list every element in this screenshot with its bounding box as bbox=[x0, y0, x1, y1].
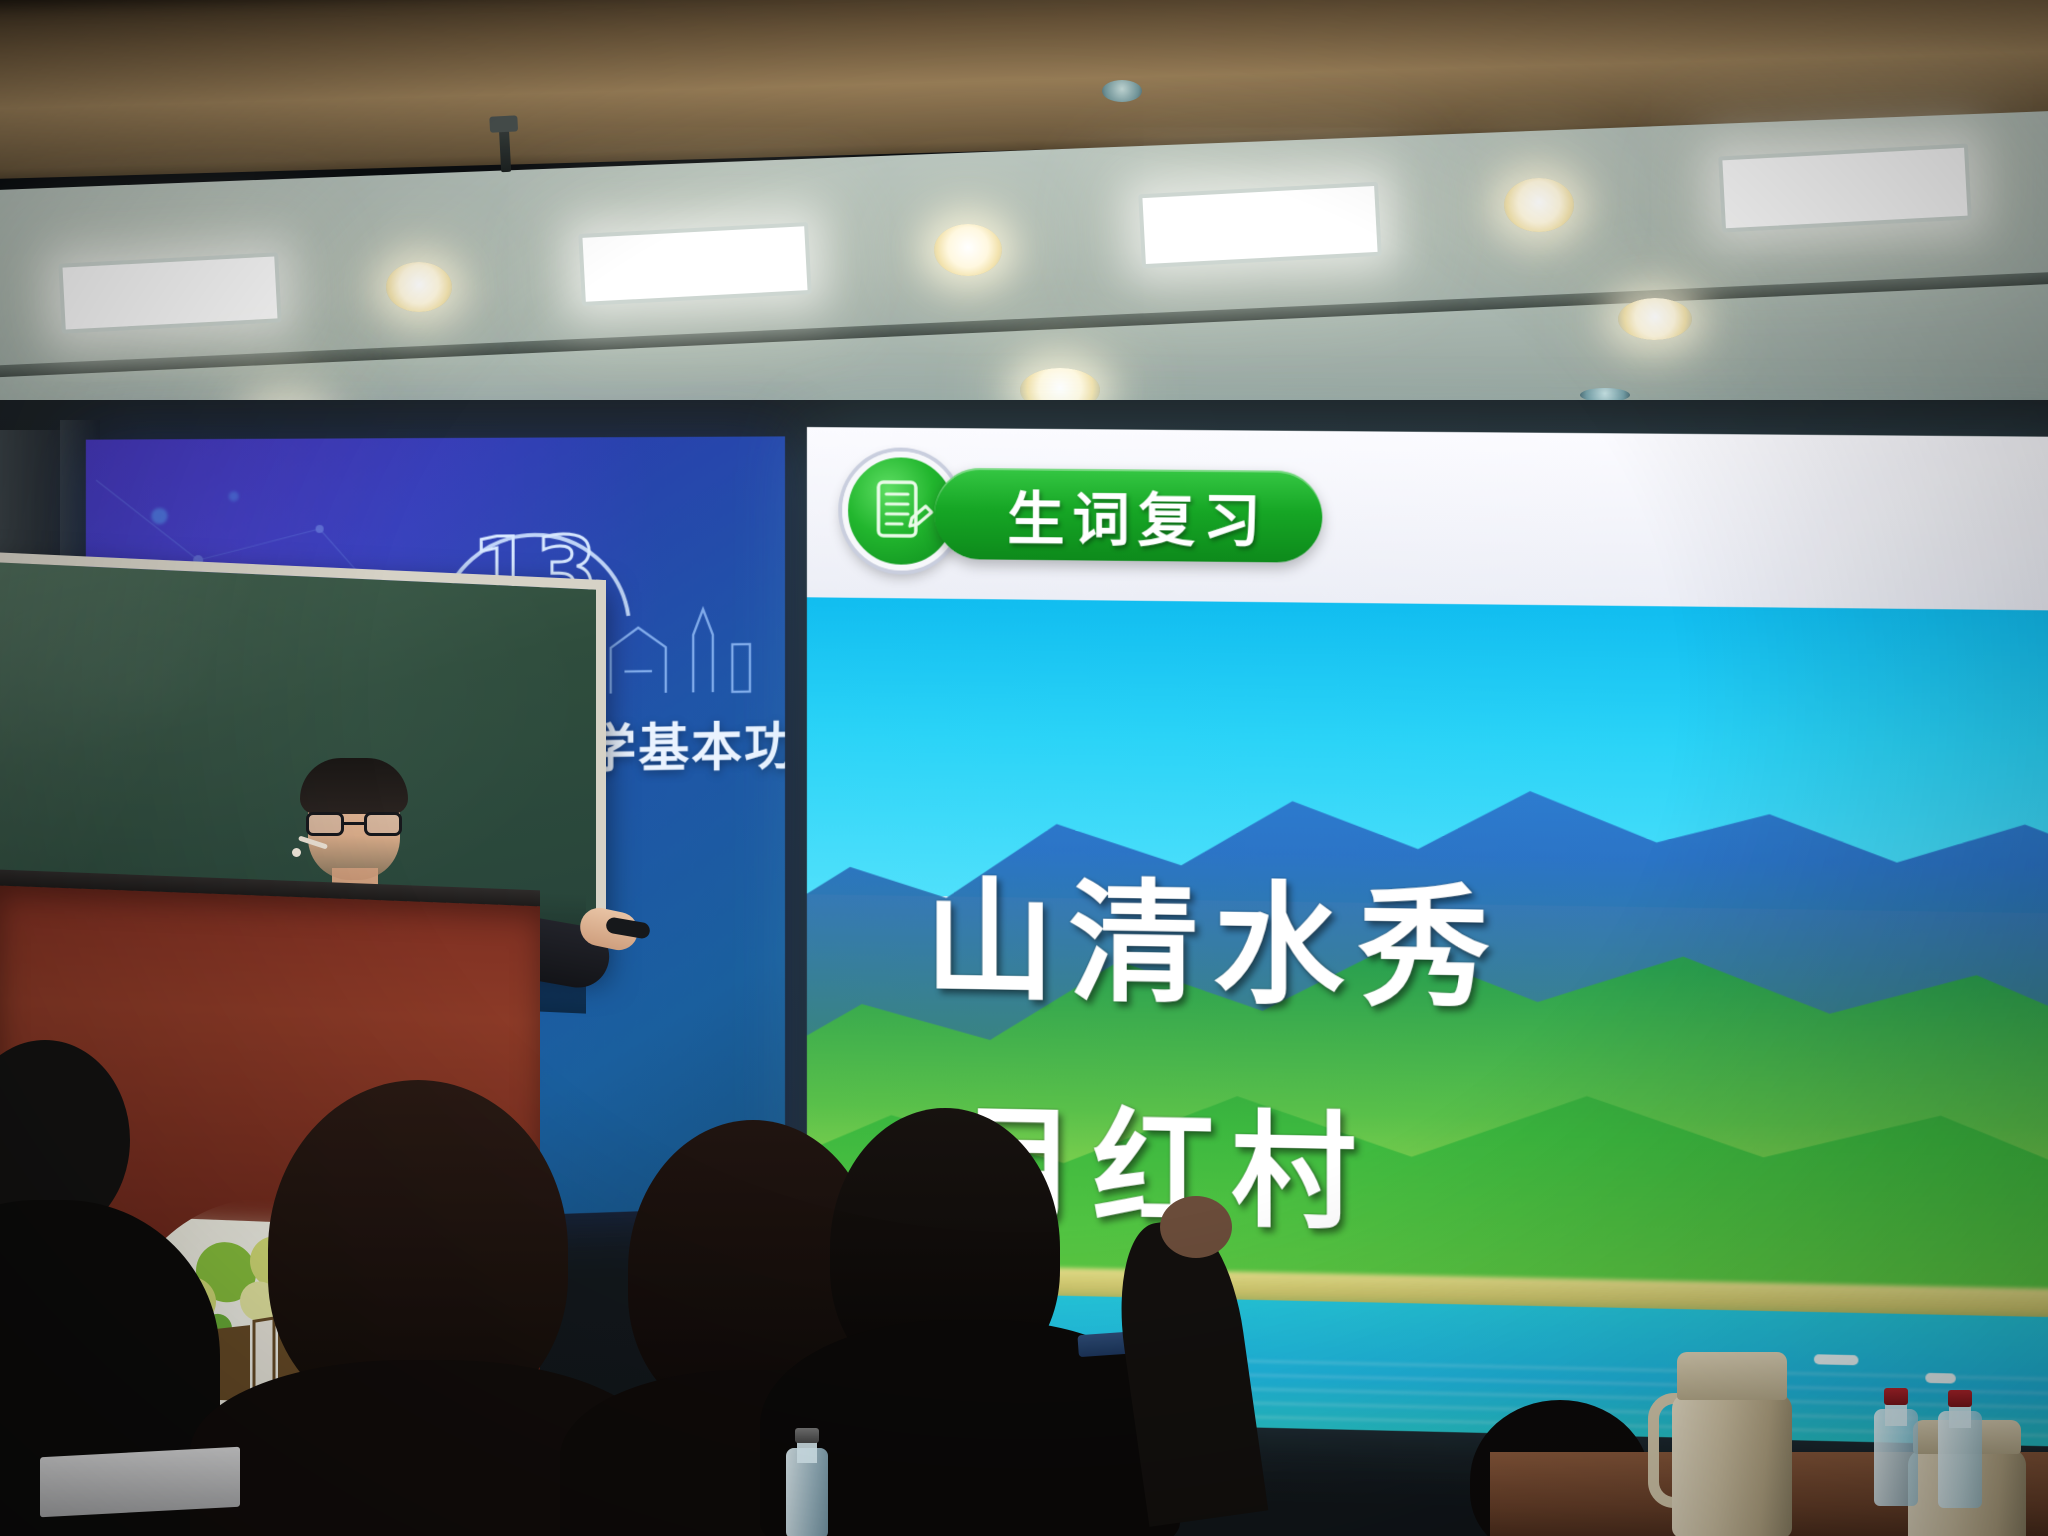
ceiling-sensor-icon bbox=[1102, 80, 1142, 102]
presenter-hair bbox=[300, 758, 408, 814]
thermos-carafe bbox=[1672, 1352, 1792, 1536]
ceiling-downlight bbox=[1618, 298, 1692, 340]
water-bottle bbox=[1938, 1390, 1982, 1508]
bottle-cap bbox=[1948, 1390, 1973, 1407]
ceiling-downlight bbox=[1504, 178, 1574, 232]
document-pencil-glyph bbox=[865, 474, 938, 548]
slide-headline-line1: 山清水秀 bbox=[925, 835, 1504, 1034]
carafe-body bbox=[1672, 1393, 1792, 1536]
ceiling-panel-light bbox=[578, 222, 811, 306]
ceiling-panel-light bbox=[1138, 182, 1382, 268]
bottle-cap bbox=[795, 1428, 819, 1443]
ceiling-panel-light bbox=[1718, 144, 1972, 233]
slide-section-label: 生词复习 bbox=[1007, 472, 1268, 558]
carafe-lid bbox=[1677, 1352, 1787, 1400]
photo-boat bbox=[1925, 1373, 1955, 1384]
decorative-dot bbox=[229, 491, 239, 501]
bottle-cap bbox=[1884, 1388, 1909, 1405]
lecture-hall-scene: 13 第十三届青年教师教学基本功比赛 单位：中国传媒大学 bbox=[0, 0, 2048, 1536]
decorative-dot bbox=[151, 508, 167, 524]
audience-hand bbox=[1160, 1196, 1232, 1258]
ceiling-panel-light bbox=[58, 252, 281, 333]
photo-boat bbox=[1814, 1354, 1859, 1365]
glasses-icon bbox=[306, 812, 402, 838]
water-bottle bbox=[786, 1428, 828, 1536]
ceiling-downlight bbox=[934, 224, 1002, 276]
slide-section-badge: 生词复习 bbox=[934, 468, 1322, 563]
microphone-tip-icon bbox=[292, 848, 301, 857]
water-bottle bbox=[1874, 1388, 1918, 1506]
ceiling-downlight bbox=[386, 262, 452, 312]
laptop[interactable] bbox=[40, 1447, 240, 1517]
